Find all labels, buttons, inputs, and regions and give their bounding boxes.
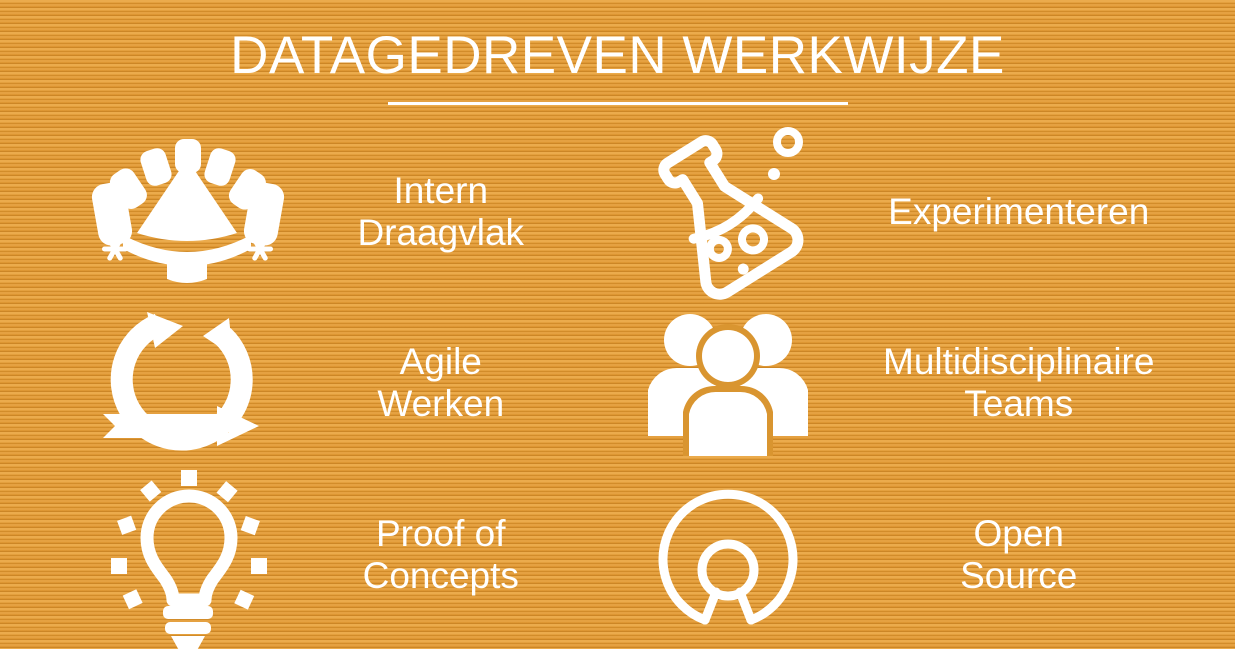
item-multidisciplinaire-teams: Multidisciplinaire Teams	[618, 298, 1235, 470]
agile-cycle-icon	[92, 303, 282, 463]
items-grid: Intern Draagvlak	[0, 126, 1235, 641]
item-label: Experimenteren	[821, 191, 1218, 233]
title-divider-rule	[388, 102, 848, 105]
item-agile-werken: Agile Werken	[0, 298, 618, 470]
item-label: Multidisciplinaire Teams	[821, 341, 1218, 425]
conference-table-icon	[92, 132, 282, 292]
item-open-source: Open Source	[618, 469, 1235, 641]
item-label: Open Source	[821, 513, 1218, 597]
item-proof-of-concepts: Proof of Concepts	[0, 469, 618, 641]
item-label: Intern Draagvlak	[282, 170, 600, 254]
title-block: DATAGEDREVEN WERKWIJZE	[0, 28, 1235, 105]
open-source-logo-icon	[636, 475, 821, 635]
item-experimenteren: Experimenteren	[618, 126, 1235, 298]
item-label: Agile Werken	[282, 341, 600, 425]
slide-canvas: DATAGEDREVEN WERKWIJZE	[0, 0, 1235, 649]
item-intern-draagvlak: Intern Draagvlak	[0, 126, 618, 298]
people-group-icon	[636, 303, 821, 463]
flask-icon	[636, 132, 821, 292]
page-title: DATAGEDREVEN WERKWIJZE	[0, 28, 1235, 84]
item-label: Proof of Concepts	[282, 513, 600, 597]
lightbulb-icon	[92, 475, 282, 635]
